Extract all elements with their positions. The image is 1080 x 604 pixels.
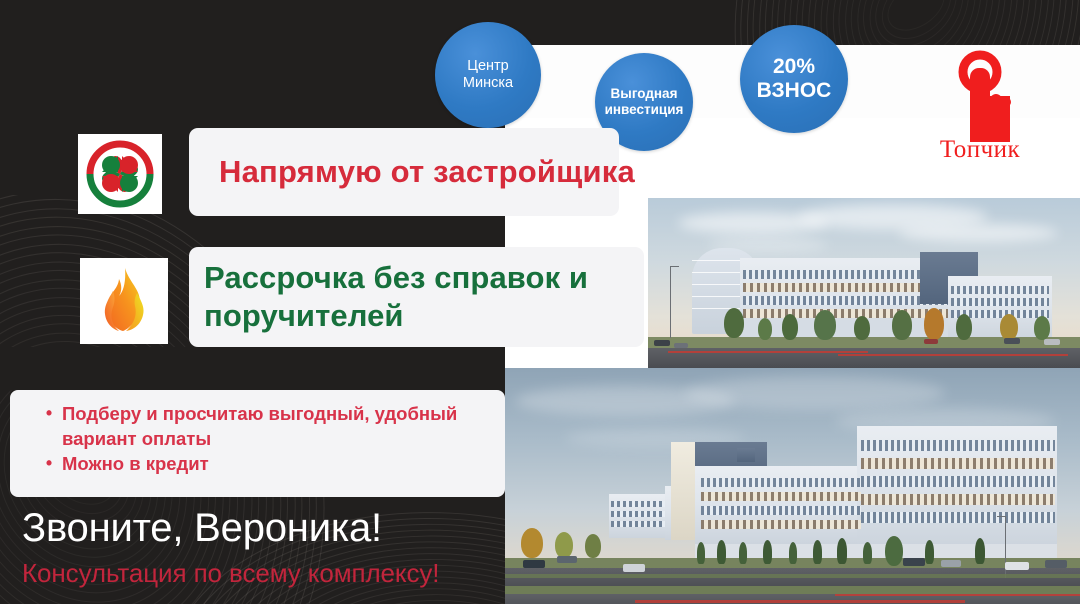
tree-conifer <box>813 540 822 564</box>
tree <box>585 534 601 558</box>
tree <box>885 536 903 566</box>
tree-autumn <box>924 308 944 340</box>
flame-logo <box>80 258 168 344</box>
tree-conifer <box>925 540 934 564</box>
road-light-trail <box>635 600 965 603</box>
banner-direct-from-developer[interactable]: Напрямую от застройщика <box>189 128 619 216</box>
street-light <box>670 266 671 338</box>
building-render-top <box>648 198 1080 368</box>
tree-conifer <box>717 540 726 564</box>
cloud <box>685 376 945 410</box>
bubble-down-payment-line1: 20% <box>757 55 832 79</box>
road-light-trail <box>838 354 1068 356</box>
street-light-arm <box>997 516 1006 517</box>
clover-hearts-logo <box>78 134 162 214</box>
bubble-center-minsk[interactable]: Центр Минска <box>435 22 541 128</box>
window-row <box>861 476 1055 487</box>
topchik-brand-name: Топчик <box>918 136 1042 164</box>
background-notch <box>0 347 505 390</box>
car <box>674 343 688 348</box>
bullet-text: Можно в кредит <box>62 451 505 476</box>
tree <box>854 316 870 340</box>
bullet-marker: • <box>44 401 54 425</box>
window-row <box>701 506 861 515</box>
car <box>924 339 938 344</box>
tree <box>814 310 836 340</box>
consultation-subheading: Консультация по всему комплексу! <box>22 558 439 589</box>
window-row <box>701 520 861 529</box>
bubble-down-payment[interactable]: 20% ВЗНОС <box>740 25 848 133</box>
tree-autumn <box>1000 314 1018 340</box>
window-row <box>861 458 1055 469</box>
car <box>1005 562 1029 570</box>
tree <box>758 318 772 340</box>
tree-conifer <box>763 540 772 564</box>
window-row <box>701 478 861 487</box>
bubble-down-payment-line2: ВЗНОС <box>757 79 832 103</box>
flame-icon <box>91 265 157 337</box>
car <box>941 560 961 567</box>
bullet-text: Подберу и просчитаю выгодный, удобный ва… <box>62 401 505 451</box>
window-row <box>951 286 1049 294</box>
tree-autumn <box>555 532 573 558</box>
window-row <box>701 492 861 501</box>
grass-strip <box>505 574 1080 578</box>
tree <box>782 314 798 340</box>
benefits-panel: • Подберу и просчитаю выгодный, удобный … <box>10 390 505 497</box>
window-row <box>861 512 1055 523</box>
banner-installments-text: Рассрочка без справок и поручителей <box>189 259 644 335</box>
tree-conifer <box>697 542 705 564</box>
building-render-bottom <box>505 368 1080 604</box>
window-row <box>861 494 1055 505</box>
tree <box>724 308 744 338</box>
clover-hearts-icon <box>84 139 156 209</box>
tree-conifer <box>789 542 797 564</box>
tree-autumn <box>521 528 543 558</box>
bubble-good-investment-line2: инвестиция <box>605 102 684 118</box>
window-row <box>861 440 1055 451</box>
building-rooftop-unit <box>737 448 755 462</box>
bubble-center-minsk-line2: Минска <box>463 75 513 92</box>
bubble-good-investment-line1: Выгодная <box>605 86 684 102</box>
tree <box>1034 316 1050 340</box>
cloud <box>898 224 1058 242</box>
road-light-trail <box>668 351 868 353</box>
pointing-hand-icon <box>920 50 1040 150</box>
car <box>1044 339 1060 345</box>
window-row <box>951 298 1049 306</box>
car <box>654 340 670 346</box>
building-entrance-tower <box>671 442 697 540</box>
car <box>903 558 925 566</box>
bullet-marker: • <box>44 451 54 475</box>
car <box>523 560 545 568</box>
call-to-action-heading: Звоните, Вероника! <box>22 506 382 551</box>
car <box>1045 560 1067 568</box>
road-light-trail <box>835 594 1080 596</box>
tree <box>892 310 912 340</box>
car <box>557 556 577 563</box>
street-light-arm <box>670 266 679 267</box>
bubble-center-minsk-line1: Центр <box>463 58 513 75</box>
tree-conifer <box>975 538 985 564</box>
banner-installments[interactable]: Рассрочка без справок и поручителей <box>189 247 644 347</box>
list-item: • Подберу и просчитаю выгодный, удобный … <box>10 401 505 451</box>
tree-conifer <box>739 542 747 564</box>
banner-direct-from-developer-text: Напрямую от застройщика <box>189 155 635 189</box>
tree-conifer <box>837 538 847 564</box>
tree-conifer <box>863 542 872 564</box>
list-item: • Можно в кредит <box>10 451 505 476</box>
tree <box>956 314 972 340</box>
car <box>623 564 645 572</box>
car <box>1004 338 1020 344</box>
promo-banner-canvas: Центр Минска Выгодная инвестиция 20% ВЗН… <box>0 0 1080 604</box>
